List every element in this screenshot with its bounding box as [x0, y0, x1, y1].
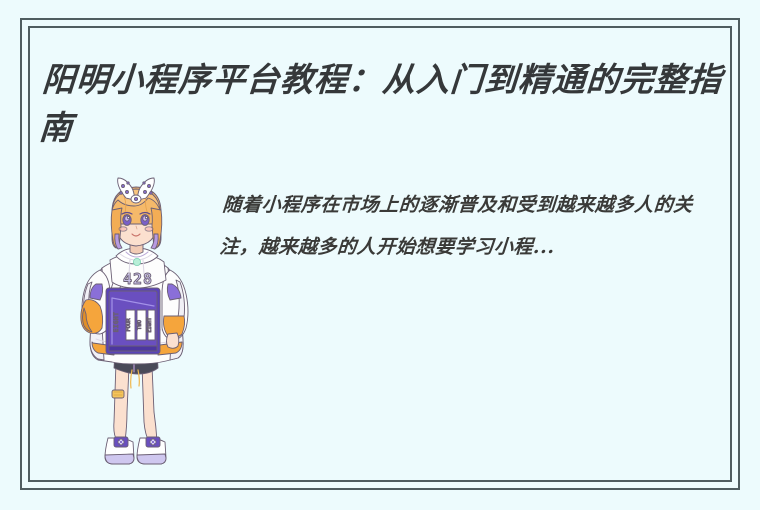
svg-text:FOUR: FOUR: [126, 318, 132, 332]
svg-text:EIGHT: EIGHT: [113, 312, 120, 333]
article-title: 阳明小程序平台教程：从入门到精通的完整指南: [37, 56, 736, 152]
article-excerpt: 随着小程序在市场上的逐渐普及和受到越来越多人的关注，越来越多的人开始想要学习小程…: [218, 184, 724, 268]
character-illustration: EIGHT FOUR TWO EIGHT 428: [68, 176, 204, 476]
svg-text:428: 428: [123, 270, 153, 288]
svg-text:TWO: TWO: [137, 320, 143, 330]
article-card: 阳明小程序平台教程：从入门到精通的完整指南: [0, 0, 760, 510]
svg-text:EIGHT: EIGHT: [147, 317, 153, 332]
